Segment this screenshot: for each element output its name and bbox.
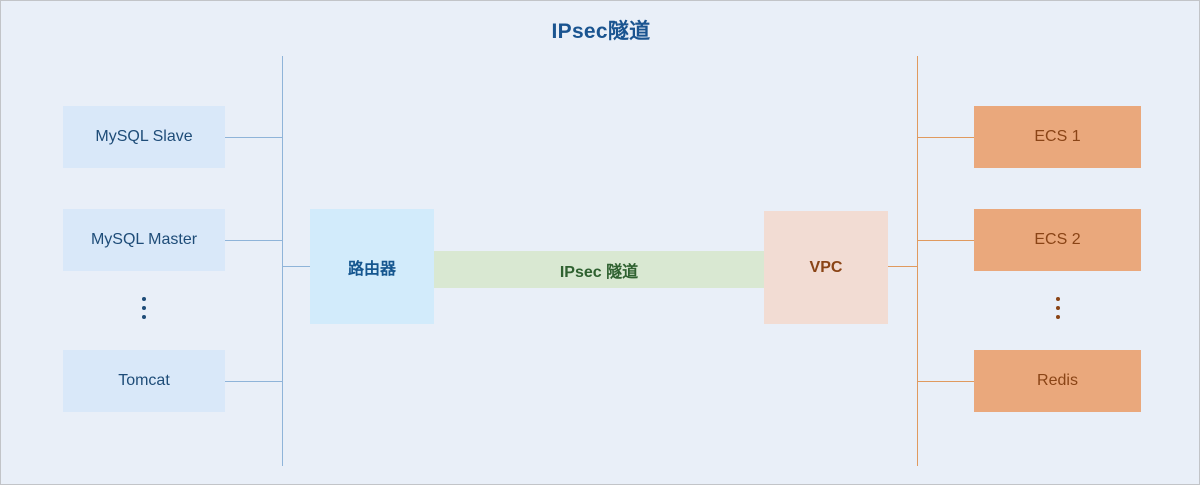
right-branch-line-redis [917,381,975,382]
node-vpc[interactable]: VPC [764,211,888,324]
right-branch-line-ecs-2 [917,240,975,241]
ipsec-tunnel-label: IPsec 隧道 [560,258,638,282]
node-ecs-2-label: ECS 2 [1034,231,1080,249]
left-branch-line-tomcat [225,381,283,382]
node-redis[interactable]: Redis [974,350,1141,412]
node-redis-label: Redis [1037,372,1078,390]
node-ecs-2[interactable]: ECS 2 [974,209,1141,271]
left-branch-line-mysql-master [225,240,283,241]
node-mysql-slave-label: MySQL Slave [95,128,192,146]
vpc-to-right-trunk-line [888,266,918,267]
ipsec-tunnel-diagram: IPsec隧道 MySQL Slave MySQL Master Tomcat … [0,0,1200,485]
page-title: IPsec隧道 [1,15,1200,45]
ipsec-tunnel-bar[interactable]: IPsec 隧道 [434,251,764,288]
node-mysql-master[interactable]: MySQL Master [63,209,225,271]
node-vpc-label: VPC [810,259,843,277]
node-tomcat-label: Tomcat [118,372,170,390]
node-mysql-master-label: MySQL Master [91,231,197,249]
right-ellipsis-icon [1053,297,1063,319]
right-trunk-line [917,56,918,466]
node-router[interactable]: 路由器 [310,209,434,324]
node-mysql-slave[interactable]: MySQL Slave [63,106,225,168]
node-ecs-1[interactable]: ECS 1 [974,106,1141,168]
right-branch-line-ecs-1 [917,137,975,138]
left-trunk-line [282,56,283,466]
left-branch-line-mysql-slave [225,137,283,138]
node-router-label: 路由器 [348,255,396,279]
node-ecs-1-label: ECS 1 [1034,128,1080,146]
node-tomcat[interactable]: Tomcat [63,350,225,412]
left-trunk-to-router-line [282,266,311,267]
left-ellipsis-icon [139,297,149,319]
